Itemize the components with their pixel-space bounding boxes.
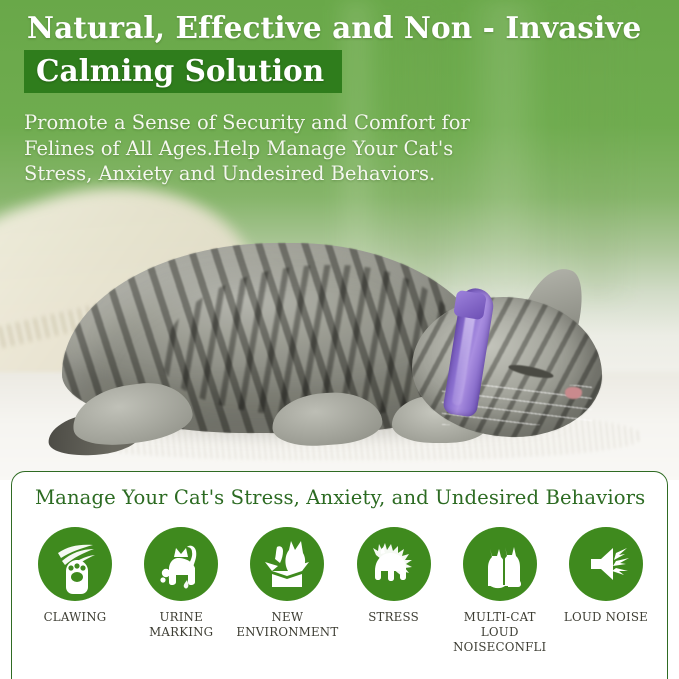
stressed-arched-cat-icon [357, 527, 431, 601]
behavior-item-new-environment: NEW ENVIRONMENT [234, 527, 340, 640]
hero-title-highlight: Calming Solution [24, 50, 342, 93]
sleeping-cat-photo [42, 235, 642, 445]
behavior-item-urine-marking: URINE MARKING [128, 527, 234, 640]
behavior-item-multi-cat: MULTI-CAT LOUD NOISECONFLI [447, 527, 553, 655]
clawing-paw-icon [38, 527, 112, 601]
two-cats-icon [463, 527, 537, 601]
loud-speaker-icon [569, 527, 643, 601]
behavior-label: STRESS [368, 610, 419, 625]
behavior-icon-row: CLAWING [22, 527, 659, 655]
hero-subtitle: Promote a Sense of Security and Comfort … [24, 110, 494, 187]
collar-buckle [453, 290, 487, 320]
cat-in-box-icon [250, 527, 324, 601]
behavior-item-loud-noise: LOUD NOISE [553, 527, 659, 625]
card-title: Manage Your Cat's Stress, Anxiety, and U… [35, 486, 645, 509]
behavior-item-clawing: CLAWING [22, 527, 128, 625]
behaviors-card: Manage Your Cat's Stress, Anxiety, and U… [11, 471, 668, 679]
behavior-label: CLAWING [44, 610, 107, 625]
behavior-item-stress: STRESS [341, 527, 447, 625]
cat-nose [565, 387, 582, 399]
behavior-label: MULTI-CAT LOUD NOISECONFLI [447, 610, 553, 655]
behavior-label: URINE MARKING [149, 610, 213, 640]
behavior-label: LOUD NOISE [564, 610, 648, 625]
behavior-label: NEW ENVIRONMENT [236, 610, 338, 640]
urine-marking-cat-icon [144, 527, 218, 601]
product-marketing-image: Natural, Effective and Non - Invasive Ca… [0, 0, 679, 679]
hero-title: Natural, Effective and Non - Invasive [27, 8, 647, 48]
hero-section: Natural, Effective and Non - Invasive Ca… [0, 0, 679, 480]
